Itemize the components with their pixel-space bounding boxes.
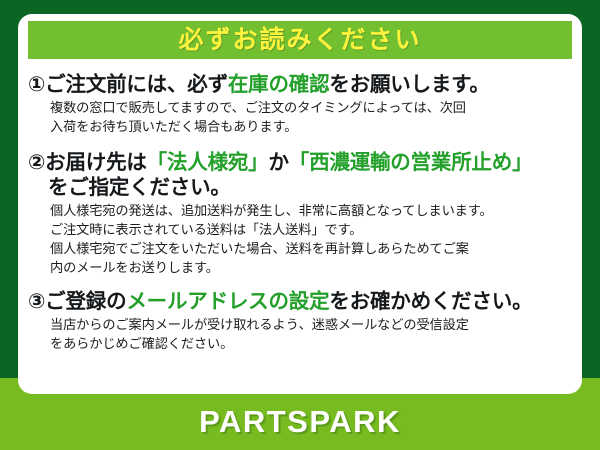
- header-banner: 必ずお読みください: [28, 21, 572, 59]
- notice-body-line: ご注文時に表示されている送料は「法人送料」です。: [50, 221, 574, 240]
- heading-segment: をお確かめください。: [329, 290, 532, 313]
- notice-body-line: 内のメールをお送りします。: [50, 259, 574, 278]
- notice-body-line: 個人様宅宛でご注文をいただいた場合、送料を再計算しあらためてご案: [50, 240, 574, 259]
- heading-segment: をお願いします。: [329, 73, 489, 96]
- heading-segment: 「法人様宛」: [147, 151, 269, 174]
- notice-item-1-body: 複数の窓口で販売してますので、ご注文のタイミングによっては、次回入荷をお待ち頂い…: [28, 99, 574, 136]
- heading-segment: ご登録の: [45, 290, 126, 313]
- notice-content: ①ご注文前には、必ず在庫の確認をお願いします。 複数の窓口で販売してますので、ご…: [18, 62, 582, 394]
- heading-segment: 「西濃運輸の営業所止め」: [289, 151, 533, 174]
- notice-item-2-marker: ②: [28, 151, 45, 174]
- notice-body-line: 当店からのご案内メールが受け取れるよう、迷惑メールなどの受信設定: [50, 316, 574, 335]
- header-title: 必ずお読みください: [178, 28, 421, 53]
- notice-item-3-body: 当店からのご案内メールが受け取れるよう、迷惑メールなどの受信設定をあらかじめご確…: [28, 316, 574, 353]
- notice-item-1-heading: ①ご注文前には、必ず在庫の確認をお願いします。: [28, 72, 574, 97]
- heading-segment: 在庫の確認: [228, 73, 330, 96]
- notice-item-2-heading-line2: をご指定ください。: [28, 175, 574, 200]
- notice-item-3: ③ご登録のメールアドレスの設定をお確かめください。 当店からのご案内メールが受け…: [28, 289, 574, 353]
- notice-item-2: ②お届け先は「法人様宛」か「西濃運輸の営業所止め」をご指定ください。 個人様宅宛…: [28, 150, 574, 277]
- brand-footer: PARTSPARK: [0, 394, 600, 450]
- notice-body-line: 個人様宅宛の発送は、追加送料が発生し、非常に高額となってしまいます。: [50, 202, 574, 221]
- heading-segment: メールアドレスの設定: [126, 290, 329, 313]
- heading-segment: か: [268, 151, 288, 174]
- notice-item-2-heading: ②お届け先は「法人様宛」か「西濃運輸の営業所止め」をご指定ください。: [28, 150, 574, 200]
- notice-body-line: 複数の窓口で販売してますので、ご注文のタイミングによっては、次回: [50, 99, 574, 118]
- notice-item-1-marker: ①: [28, 73, 45, 96]
- notice-item-2-body: 個人様宅宛の発送は、追加送料が発生し、非常に高額となってしまいます。ご注文時に表…: [28, 202, 574, 277]
- notice-card: 必ずお読みください ①ご注文前には、必ず在庫の確認をお願いします。 複数の窓口で…: [0, 0, 600, 450]
- brand-name: PARTSPARK: [199, 404, 401, 440]
- notice-body-line: 入荷をお待ち頂いただく場合もあります。: [50, 118, 574, 137]
- heading-segment: お届け先は: [45, 151, 147, 174]
- notice-item-3-marker: ③: [28, 290, 45, 313]
- heading-segment: ご注文前には、必ず: [45, 73, 228, 96]
- notice-item-3-heading: ③ご登録のメールアドレスの設定をお確かめください。: [28, 289, 574, 314]
- notice-item-1: ①ご注文前には、必ず在庫の確認をお願いします。 複数の窓口で販売してますので、ご…: [28, 72, 574, 136]
- notice-body-line: をあらかじめご確認ください。: [50, 335, 574, 354]
